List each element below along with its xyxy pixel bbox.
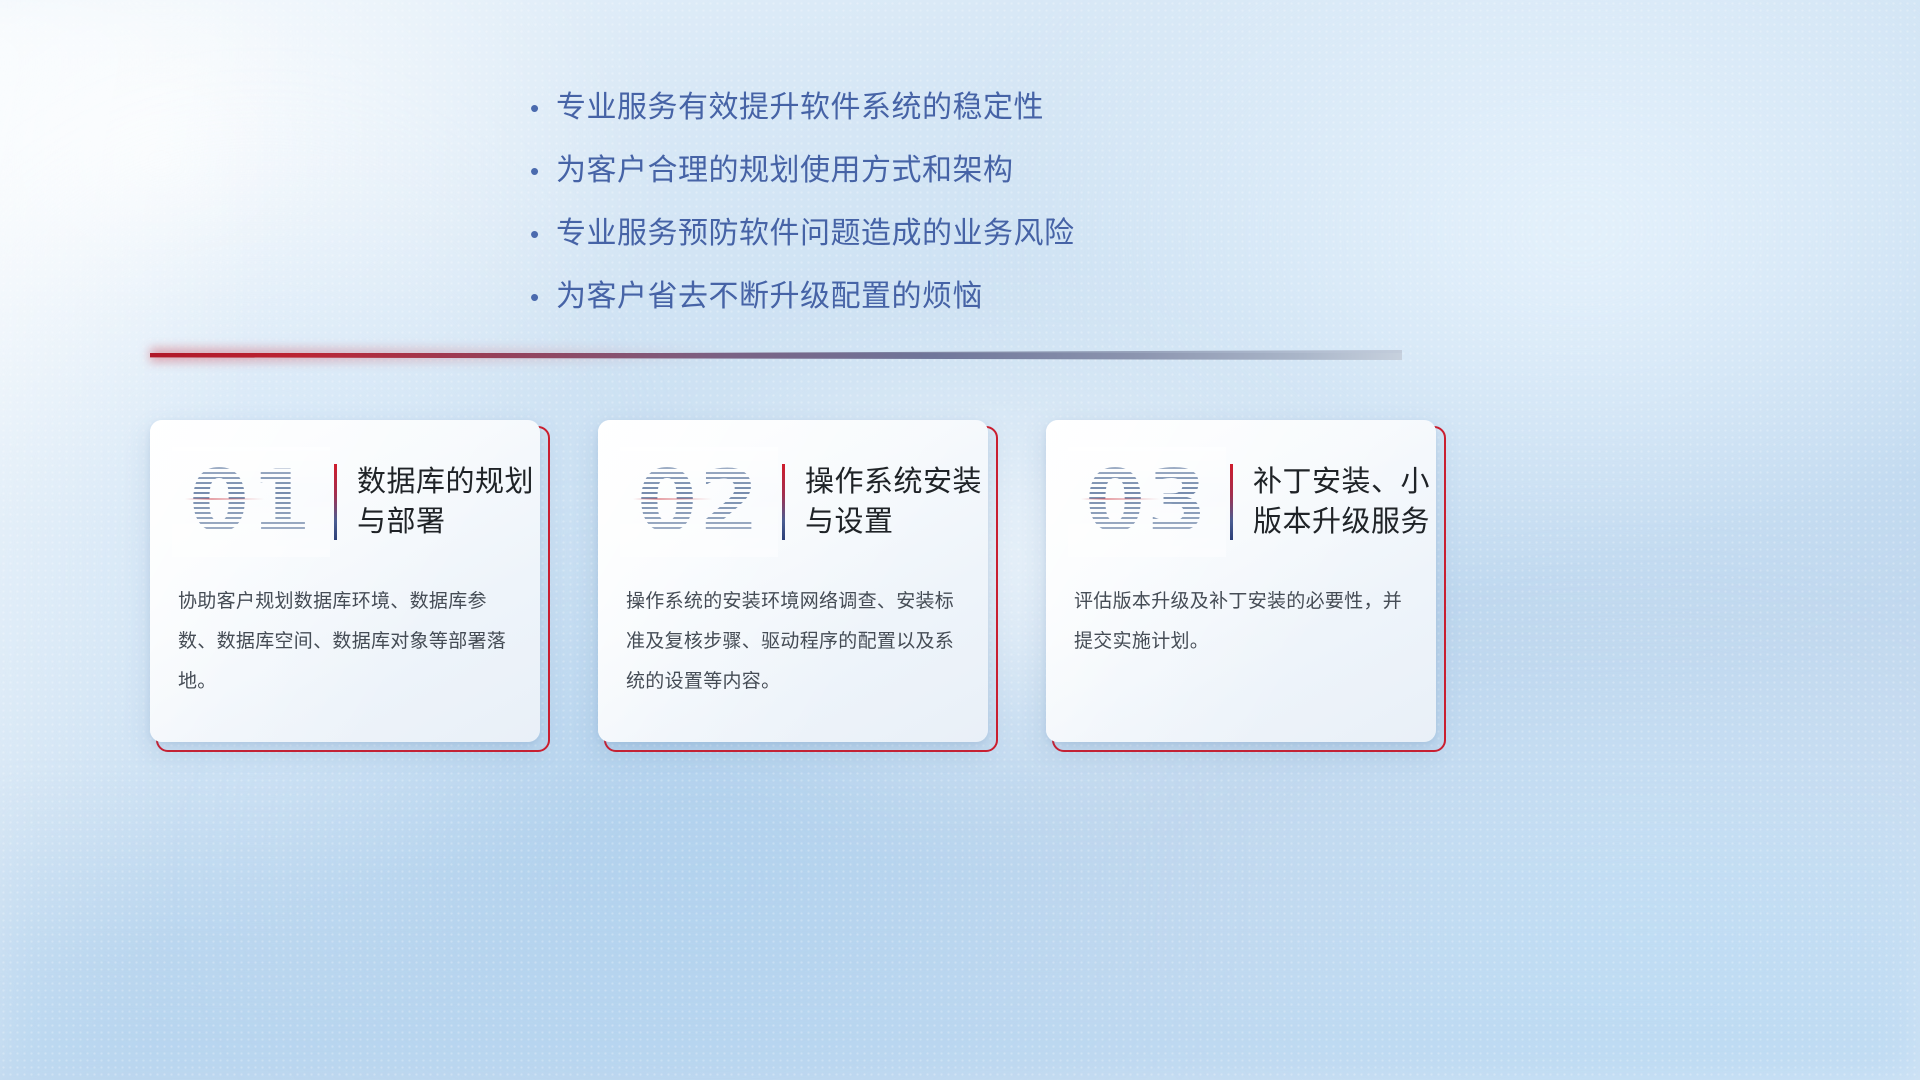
card-title: 数据库的规划与部署 xyxy=(357,462,540,542)
slide-canvas: • 专业服务有效提升软件系统的稳定性 • 为客户合理的规划使用方式和架构 • 专… xyxy=(0,0,1920,1080)
list-item: • 为客户合理的规划使用方式和架构 xyxy=(530,151,1390,191)
card-divider-bar xyxy=(782,464,785,540)
card-header: 01 数据库的规划与部署 xyxy=(150,438,540,566)
bullet-text: 专业服务有效提升软件系统的稳定性 xyxy=(556,88,1044,128)
card-description: 操作系统的安装环境网络调查、安装标准及复核步骤、驱动程序的配置以及系统的设置等内… xyxy=(626,582,962,702)
card-number-red-streak xyxy=(1081,498,1214,500)
card-surface: 01 数据库的规划与部署 协助客户规划数据库环境、数据库参数、数据库空间、数据库… xyxy=(150,420,540,742)
card-number-red-streak xyxy=(185,498,318,500)
card-number-badge: 01 xyxy=(172,447,330,557)
bullet-dot-icon: • xyxy=(530,214,556,254)
section-divider xyxy=(150,346,1402,366)
card-divider-bar xyxy=(334,464,337,540)
bullet-text: 为客户合理的规划使用方式和架构 xyxy=(556,151,1014,191)
card-surface: 03 补丁安装、小版本升级服务 评估版本升级及补丁安装的必要性，并提交实施计划。 xyxy=(1046,420,1436,742)
bullet-dot-icon: • xyxy=(530,88,556,128)
card-header: 02 操作系统安装与设置 xyxy=(598,438,988,566)
card-title: 补丁安装、小版本升级服务 xyxy=(1253,462,1436,542)
service-card-01[interactable]: 01 数据库的规划与部署 协助客户规划数据库环境、数据库参数、数据库空间、数据库… xyxy=(150,420,540,742)
card-number: 01 xyxy=(189,447,313,557)
card-title: 操作系统安装与设置 xyxy=(805,462,988,542)
benefits-list: • 专业服务有效提升软件系统的稳定性 • 为客户合理的规划使用方式和架构 • 专… xyxy=(530,88,1390,340)
card-number: 03 xyxy=(1085,447,1209,557)
card-number: 02 xyxy=(637,447,761,557)
service-card-03[interactable]: 03 补丁安装、小版本升级服务 评估版本升级及补丁安装的必要性，并提交实施计划。 xyxy=(1046,420,1436,742)
list-item: • 专业服务有效提升软件系统的稳定性 xyxy=(530,88,1390,128)
bullet-text: 为客户省去不断升级配置的烦恼 xyxy=(556,277,983,317)
service-card-group: 01 数据库的规划与部署 协助客户规划数据库环境、数据库参数、数据库空间、数据库… xyxy=(150,420,1450,750)
bullet-dot-icon: • xyxy=(530,151,556,191)
card-number-badge: 03 xyxy=(1068,447,1226,557)
service-card-02[interactable]: 02 操作系统安装与设置 操作系统的安装环境网络调查、安装标准及复核步骤、驱动程… xyxy=(598,420,988,742)
card-number-badge: 02 xyxy=(620,447,778,557)
card-divider-bar xyxy=(1230,464,1233,540)
card-header: 03 补丁安装、小版本升级服务 xyxy=(1046,438,1436,566)
card-number-red-streak xyxy=(633,498,766,500)
card-description: 协助客户规划数据库环境、数据库参数、数据库空间、数据库对象等部署落地。 xyxy=(178,582,514,702)
list-item: • 专业服务预防软件问题造成的业务风险 xyxy=(530,214,1390,254)
card-description: 评估版本升级及补丁安装的必要性，并提交实施计划。 xyxy=(1074,582,1410,662)
bullet-dot-icon: • xyxy=(530,277,556,317)
card-surface: 02 操作系统安装与设置 操作系统的安装环境网络调查、安装标准及复核步骤、驱动程… xyxy=(598,420,988,742)
list-item: • 为客户省去不断升级配置的烦恼 xyxy=(530,277,1390,317)
bullet-text: 专业服务预防软件问题造成的业务风险 xyxy=(556,214,1075,254)
